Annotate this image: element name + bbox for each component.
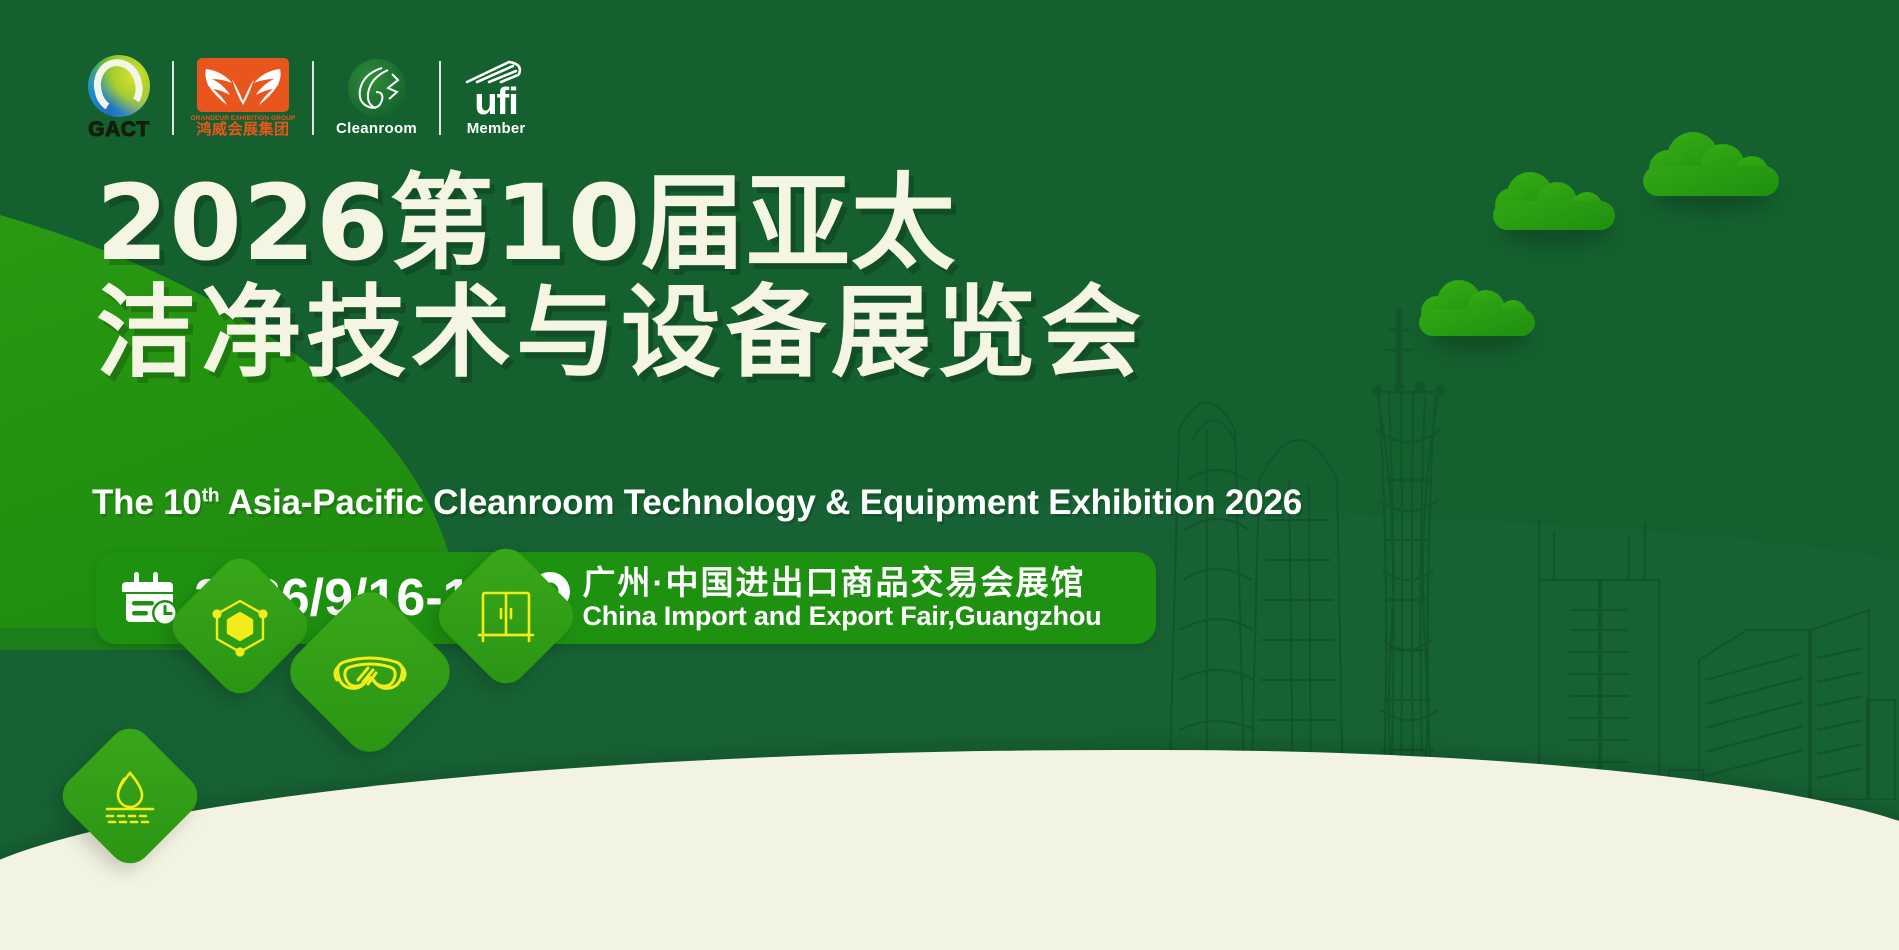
cabinet-icon [475,585,537,647]
headline-line-2: 洁净技术与设备展览会 [96,279,1226,386]
gact-orb-icon [88,55,150,117]
calendar-clock-icon [122,570,180,626]
grandeur-chinese-name: 鸿威会展集团 [196,122,289,139]
subtitle-prefix: The 10 [92,483,202,522]
venue-block: 广州·中国进出口商品交易会展馆 China Import and Export … [583,564,1102,633]
logo-row: GACT GRANDEUR EXHIBITION GROUP 鸿威会展集团 [88,52,529,144]
cloud-icon-1 [1493,168,1615,230]
logo-divider-3 [439,61,441,135]
grandeur-exhibition-group-logo: GRANDEUR EXHIBITION GROUP 鸿威会展集团 [196,52,290,144]
cream-wave [0,750,1899,950]
headline-block: 2026第10届亚太 洁净技术与设备展览会 [96,168,1226,386]
cleanroom-logo: Cleanroom [336,52,417,144]
gact-wordmark: GACT [88,118,150,142]
ufi-member-label: Member [467,120,526,137]
english-subtitle: The 10th Asia-Pacific Cleanroom Technolo… [92,483,1302,523]
grandeur-wings-icon [197,58,289,112]
logo-divider-2 [312,61,314,135]
cloud-icon-2 [1643,130,1779,196]
venue-name-chinese: 广州·中国进出口商品交易会展馆 [583,564,1102,602]
cloud-icon-3 [1419,278,1535,336]
cream-wave-shadow [0,740,1899,950]
water-droplet-waves-icon [99,765,161,827]
ufi-logo: ufi Member [463,52,529,144]
cleanroom-orb-icon [348,59,406,117]
subtitle-rest: Asia-Pacific Cleanroom Technology & Equi… [219,483,1302,522]
feature-icon-water-droplet-waves[interactable] [54,720,207,873]
safety-goggles-icon [332,634,408,710]
cleanroom-wordmark: Cleanroom [336,120,417,137]
gact-logo: GACT [88,52,150,144]
ufi-wordmark: ufi [474,85,517,120]
cube-molecule-icon [209,595,271,657]
subtitle-ordinal: th [202,485,220,506]
venue-name-english: China Import and Export Fair,Guangzhou [583,601,1102,632]
headline-line-1: 2026第10届亚太 [96,168,1226,279]
logo-divider-1 [172,61,174,135]
exhibition-banner: GACT GRANDEUR EXHIBITION GROUP 鸿威会展集团 [0,0,1899,950]
